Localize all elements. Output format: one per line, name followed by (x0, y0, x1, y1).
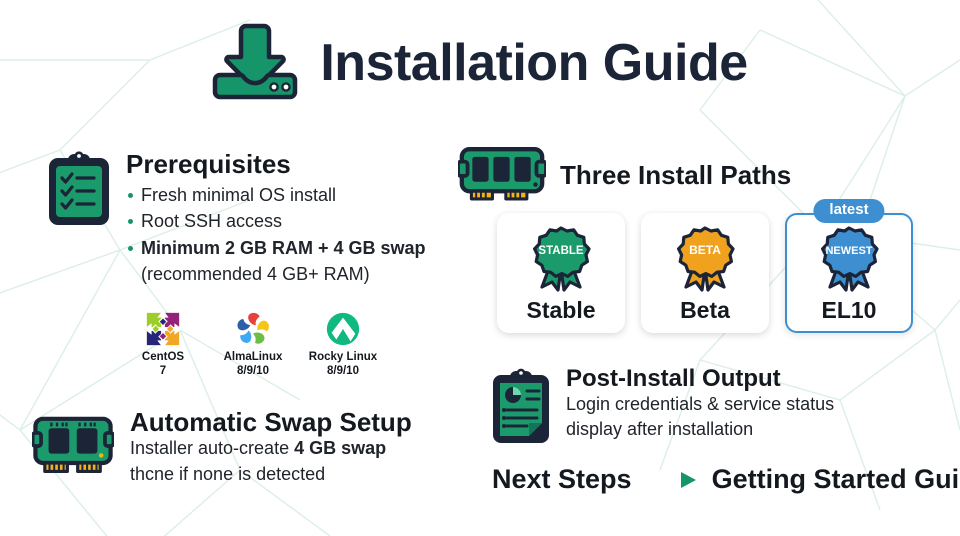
badge-text: BETA (689, 243, 721, 257)
next-steps-target[interactable]: Getting Started Guide (712, 466, 960, 493)
distro-name: AlmaLinux (218, 351, 288, 365)
post-install-title: Post-Install Output (566, 366, 834, 392)
next-steps-label: Next Steps (492, 466, 632, 493)
next-steps-row: Next Steps Getting Started Guide (492, 466, 960, 493)
badge-text: STABLE (538, 245, 583, 257)
distro-name: Rocky Linux (308, 351, 378, 365)
ribbon-rosette-icon: BETA (675, 225, 735, 293)
path-card-el10[interactable]: latest NEWEST EL10 (785, 213, 913, 333)
post-install-line-2: display after installation (566, 417, 834, 443)
distro-rockylinux: Rocky Linux 8/9/10 (308, 310, 378, 378)
swap-line-1-bold: 4 GB swap (294, 438, 386, 458)
badge-text: NEWEST (825, 245, 872, 257)
swap-line-1-prefix: Installer auto-create (130, 438, 294, 458)
prerequisites-note: (recommended 4 GB+ RAM) (126, 261, 426, 287)
distro-almalinux: AlmaLinux 8/9/10 (218, 310, 288, 378)
swap-section: Automatic Swap Setup Installer auto-crea… (32, 408, 412, 487)
path-label: Beta (680, 299, 730, 322)
swap-line-2: thcne if none is detected (130, 462, 412, 488)
ribbon-rosette-icon: NEWEST (819, 225, 879, 293)
supported-distros: CentOS 7 (128, 310, 378, 378)
page-header: Installation Guide (0, 22, 960, 104)
install-paths-title: Three Install Paths (560, 161, 791, 189)
path-label: Stable (526, 299, 595, 322)
distro-centos: CentOS 7 (128, 310, 198, 378)
distro-name: CentOS (128, 351, 198, 365)
ram-stick-icon (32, 416, 114, 478)
arrow-right-icon (646, 467, 698, 493)
post-install-line-1: Login credentials & service status (566, 392, 834, 418)
distro-version: 8/9/10 (218, 365, 288, 379)
ribbon-rosette-icon: STABLE (531, 225, 591, 293)
download-to-drive-icon (212, 22, 298, 104)
ram-module-icon (458, 146, 546, 204)
list-item: Fresh minimal OS install (126, 182, 426, 208)
page-title: Installation Guide (320, 37, 747, 89)
path-card-stable[interactable]: STABLE Stable (497, 213, 625, 333)
distro-version: 7 (128, 365, 198, 379)
install-paths-section: Three Install Paths (458, 146, 791, 204)
list-item: Minimum 2 GB RAM + 4 GB swap (126, 235, 426, 261)
clipboard-report-icon (490, 366, 552, 446)
path-label: EL10 (822, 299, 877, 322)
install-path-cards: STABLE Stable BETA Beta latest NEWEST EL… (497, 213, 913, 333)
prerequisites-section: Prerequisites Fresh minimal OS install R… (46, 150, 426, 287)
distro-version: 8/9/10 (308, 365, 378, 379)
almalinux-logo (234, 310, 272, 348)
clipboard-checklist-icon (46, 150, 112, 228)
swap-line-1: Installer auto-create 4 GB swap (130, 436, 412, 462)
latest-badge: latest (813, 199, 884, 223)
prerequisites-list: Fresh minimal OS install Root SSH access… (126, 182, 426, 287)
infographic-page: Installation Guide Prerequi (0, 0, 960, 536)
centos-logo (144, 310, 182, 348)
rockylinux-logo (324, 310, 362, 348)
path-card-beta[interactable]: BETA Beta (641, 213, 769, 333)
swap-title: Automatic Swap Setup (130, 408, 412, 436)
prerequisites-title: Prerequisites (126, 150, 426, 178)
list-item: Root SSH access (126, 208, 426, 234)
post-install-section: Post-Install Output Login credentials & … (490, 366, 834, 446)
